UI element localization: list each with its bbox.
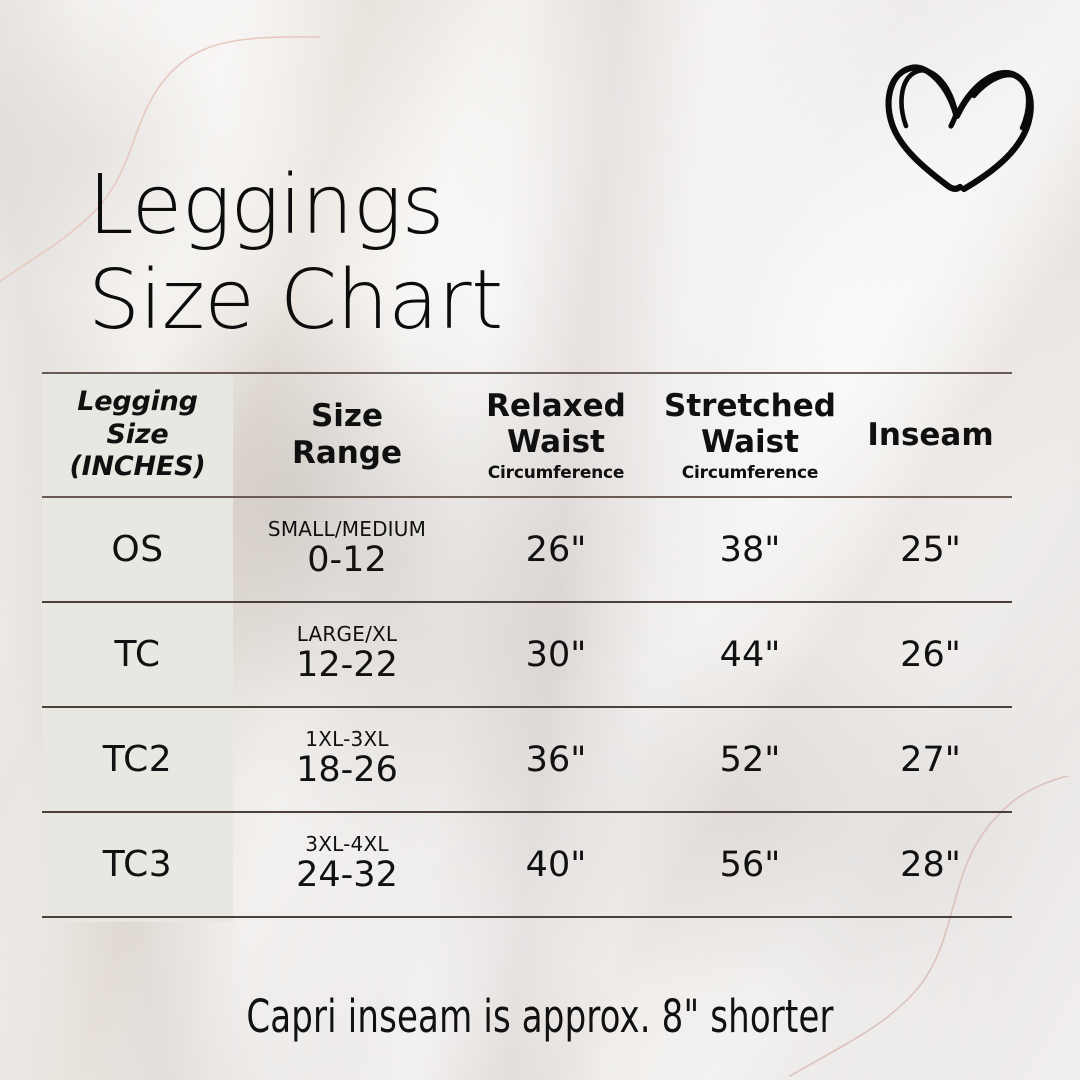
stretched-waist-label-line1: Stretched bbox=[651, 388, 849, 425]
cell-size: TC bbox=[42, 602, 233, 707]
cell-size-range: SMALL/MEDIUM 0-12 bbox=[233, 497, 461, 602]
cell-stretched-waist: 44" bbox=[651, 602, 849, 707]
cell-stretched-waist: 56" bbox=[651, 812, 849, 917]
cell-size-range: 1XL-3XL 18-26 bbox=[233, 707, 461, 812]
cell-size: OS bbox=[42, 497, 233, 602]
cell-inseam: 26" bbox=[849, 602, 1012, 707]
size-range-label: LARGE/XL bbox=[233, 623, 461, 645]
column-header-legging-size: Legging Size (INCHES) bbox=[42, 373, 233, 497]
size-range-label: 3XL-4XL bbox=[233, 833, 461, 855]
size-range-label: 1XL-3XL bbox=[233, 728, 461, 750]
size-range-label-line1: Size bbox=[233, 398, 461, 435]
size-chart-table: Legging Size (INCHES) Size Range Relaxed… bbox=[42, 372, 1012, 918]
relaxed-waist-label-line1: Relaxed bbox=[461, 388, 651, 425]
size-range-value: 18-26 bbox=[233, 751, 461, 790]
cell-inseam: 25" bbox=[849, 497, 1012, 602]
cell-size-range: 3XL-4XL 24-32 bbox=[233, 812, 461, 917]
table-header-row: Legging Size (INCHES) Size Range Relaxed… bbox=[42, 373, 1012, 497]
size-range-value: 0-12 bbox=[233, 541, 461, 580]
size-range-value: 24-32 bbox=[233, 856, 461, 895]
table-row: OS SMALL/MEDIUM 0-12 26" 38" 25" bbox=[42, 497, 1012, 602]
table-row: TC LARGE/XL 12-22 30" 44" 26" bbox=[42, 602, 1012, 707]
column-header-inseam: Inseam bbox=[849, 373, 1012, 497]
legging-size-label-line1: Legging Size bbox=[42, 386, 233, 452]
inseam-label: Inseam bbox=[849, 417, 1012, 454]
cell-size-range: LARGE/XL 12-22 bbox=[233, 602, 461, 707]
stretched-waist-label-line2: Waist bbox=[651, 424, 849, 461]
table-row: TC2 1XL-3XL 18-26 36" 52" 27" bbox=[42, 707, 1012, 812]
cell-stretched-waist: 38" bbox=[651, 497, 849, 602]
size-range-value: 12-22 bbox=[233, 646, 461, 685]
stretched-waist-sublabel: Circumference bbox=[651, 464, 849, 483]
title-line-1: Leggings bbox=[88, 158, 848, 253]
table-body: OS SMALL/MEDIUM 0-12 26" 38" 25" TC LARG… bbox=[42, 497, 1012, 917]
column-header-stretched-waist: Stretched Waist Circumference bbox=[651, 373, 849, 497]
table-header: Legging Size (INCHES) Size Range Relaxed… bbox=[42, 373, 1012, 497]
cell-size: TC2 bbox=[42, 707, 233, 812]
size-range-label-line2: Range bbox=[233, 435, 461, 472]
column-header-size-range: Size Range bbox=[233, 373, 461, 497]
legging-size-label-line2: (INCHES) bbox=[42, 451, 233, 484]
cell-inseam: 28" bbox=[849, 812, 1012, 917]
title-line-2: Size Chart bbox=[88, 253, 848, 348]
cell-stretched-waist: 52" bbox=[651, 707, 849, 812]
cell-inseam: 27" bbox=[849, 707, 1012, 812]
page-title: Leggings Size Chart bbox=[88, 158, 848, 348]
capri-inseam-note: Capri inseam is approx. 8" shorter bbox=[86, 990, 993, 1043]
relaxed-waist-sublabel: Circumference bbox=[461, 464, 651, 483]
table-row: TC3 3XL-4XL 24-32 40" 56" 28" bbox=[42, 812, 1012, 917]
cell-relaxed-waist: 40" bbox=[461, 812, 651, 917]
heart-doodle-icon bbox=[878, 52, 1046, 194]
size-range-label: SMALL/MEDIUM bbox=[233, 518, 461, 540]
cell-size: TC3 bbox=[42, 812, 233, 917]
relaxed-waist-label-line2: Waist bbox=[461, 424, 651, 461]
cell-relaxed-waist: 26" bbox=[461, 497, 651, 602]
cell-relaxed-waist: 36" bbox=[461, 707, 651, 812]
size-chart-table-wrapper: Legging Size (INCHES) Size Range Relaxed… bbox=[42, 372, 1012, 918]
column-header-relaxed-waist: Relaxed Waist Circumference bbox=[461, 373, 651, 497]
size-chart-page: Leggings Size Chart Legging Size (INCHES… bbox=[0, 0, 1080, 1080]
cell-relaxed-waist: 30" bbox=[461, 602, 651, 707]
